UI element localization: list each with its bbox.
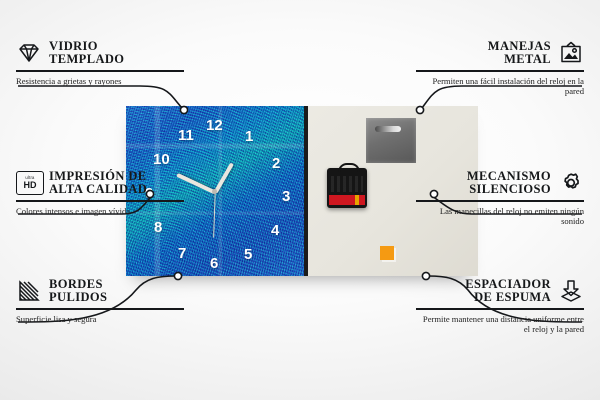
connector-vidrio-templado [18,86,182,108]
clock-number-12: 12 [206,118,223,133]
clock-number-3: 3 [282,189,290,204]
callout-title-line2: SILENCIOSO [467,183,551,196]
callout-espaciador-espuma[interactable]: ESPACIADOR DE ESPUMA Permite mantener un… [416,278,584,335]
callout-description: Permite mantener una distancia uniforme … [416,314,584,335]
callout-manejas-metal[interactable]: MANEJAS METAL Permiten una fácil instala… [416,40,584,97]
callout-title-line2: METAL [488,53,551,66]
foam-spacer [380,246,394,260]
clock-number-8: 8 [154,220,162,235]
metal-hanger-plate [366,118,416,163]
clock-number-1: 1 [245,129,253,144]
callout-title-line2: DE ESPUMA [465,291,551,304]
callout-mecanismo-silencioso[interactable]: MECANISMO SILENCIOSO Las manecillas del … [416,170,584,227]
ultra-hd-icon: ultra HD [16,171,42,195]
mechanism-body-detail [331,176,363,192]
ultra-hd-icon-big-text: HD [24,181,37,190]
callout-title-line2: PULIDOS [49,291,107,304]
picture-frame-hanger-icon [558,41,584,65]
mechanism-label [329,195,365,205]
polished-edge-icon [16,279,42,303]
callout-description: Superficie lisa y segura [16,314,184,325]
callout-impresion-alta-calidad[interactable]: ultra HD IMPRESIÓN DE ALTA CALIDAD Color… [16,170,184,216]
clock-number-6: 6 [210,256,218,271]
infographic-canvas: 12 1 2 3 4 5 6 7 8 9 10 11 [0,0,600,400]
clock-number-10: 10 [153,152,170,167]
callout-divider [416,308,584,310]
quartz-clock-mechanism [327,168,367,208]
callout-vidrio-templado[interactable]: VIDRIO TEMPLADO Resistencia a grietas y … [16,40,184,86]
callout-divider [16,200,184,202]
clock-number-2: 2 [272,156,280,171]
hanger-slot [375,126,401,132]
down-arrow-pad-icon [558,279,584,303]
callout-divider [16,70,184,72]
clock-number-5: 5 [244,247,252,262]
callout-bordes-pulidos[interactable]: BORDES PULIDOS Superficie lisa y segura [16,278,184,324]
clock-number-4: 4 [271,223,279,238]
diamond-icon [16,41,42,65]
callout-description: Las manecillas del reloj no emiten ningú… [416,206,584,227]
callout-divider [16,308,184,310]
callout-description: Resistencia a grietas y rayones [16,76,184,87]
callout-description: Colores intensos e imagen vívida [16,206,184,217]
mechanism-hook [338,163,360,174]
gear-icon [558,171,584,195]
clock-center-pin [212,189,217,194]
clock-hour-hand [213,162,233,193]
clock-number-11: 11 [178,128,194,143]
callout-divider [416,200,584,202]
callout-divider [416,70,584,72]
callout-title-line2: TEMPLADO [49,53,124,66]
callout-title-line2: ALTA CALIDAD [49,183,147,196]
clock-second-hand [213,193,216,238]
clock-number-7: 7 [178,246,186,261]
callout-description: Permiten una fácil instalación del reloj… [416,76,584,97]
